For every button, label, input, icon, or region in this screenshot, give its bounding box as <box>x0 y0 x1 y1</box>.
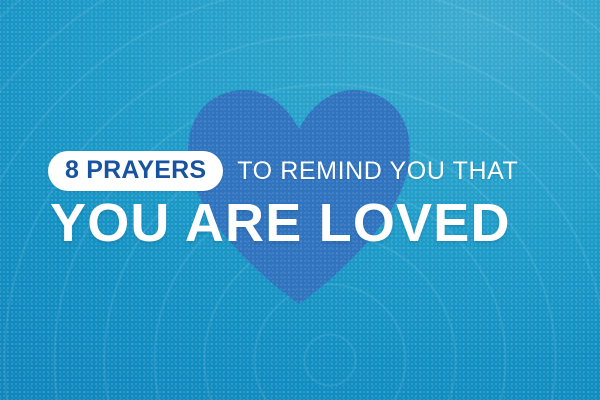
promo-banner: 8 PRAYERS TO REMIND YOU THAT YOU ARE LOV… <box>0 0 600 400</box>
banner-content: 8 PRAYERS TO REMIND YOU THAT YOU ARE LOV… <box>0 0 600 400</box>
headline-subtext: TO REMIND YOU THAT <box>237 159 518 184</box>
headline-main: YOU ARE LOVED <box>50 196 511 250</box>
prayer-count-badge: 8 PRAYERS <box>48 151 223 191</box>
headline-line-one: 8 PRAYERS TO REMIND YOU THAT <box>48 150 518 192</box>
